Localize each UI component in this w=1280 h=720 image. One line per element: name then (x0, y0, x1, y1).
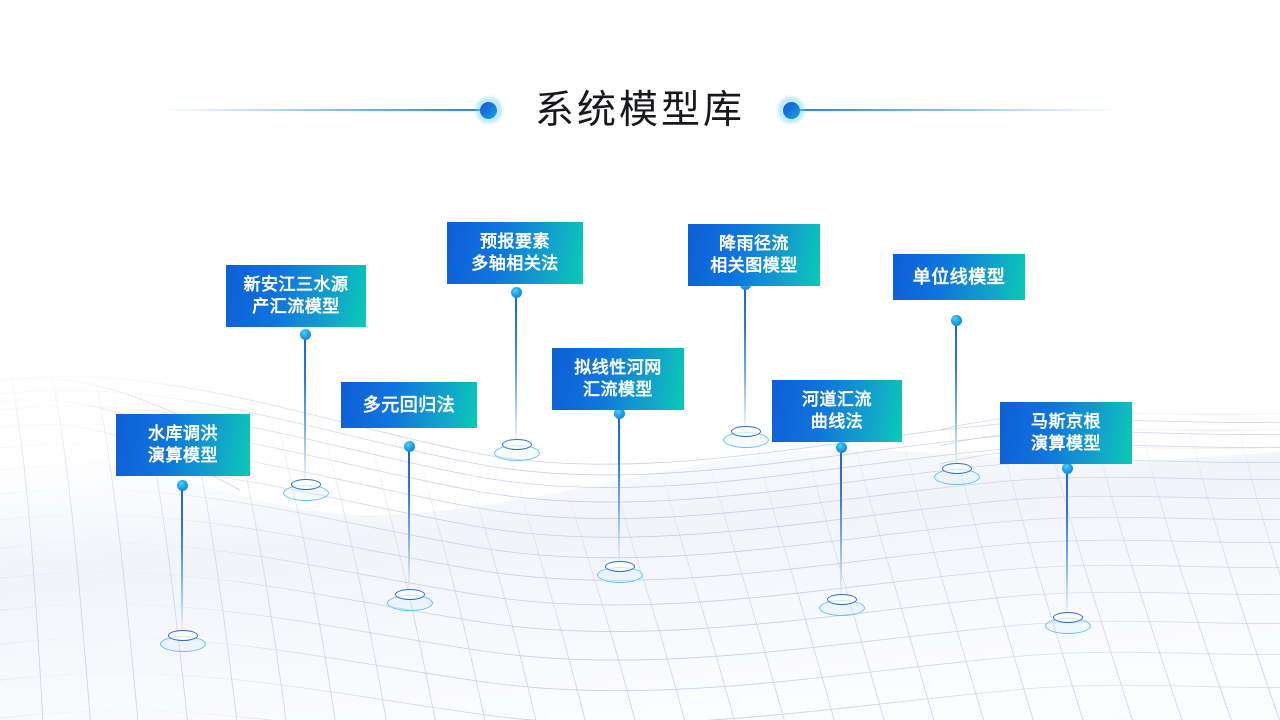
model-pin-forecast-element-multiaxis (515, 292, 517, 448)
model-label-muskingum-routing[interactable]: 马斯京根演算模型 (1000, 402, 1132, 464)
model-label-line: 单位线模型 (911, 266, 1007, 288)
model-label-unit-hydrograph[interactable]: 单位线模型 (893, 254, 1025, 300)
pin-base-ring-outer-icon (1045, 618, 1091, 634)
pin-base-ring-outer-icon (934, 469, 980, 485)
model-label-line: 河道汇流 (786, 389, 888, 411)
decorative-line-right (791, 109, 1121, 111)
pin-base-ring-inner-icon (168, 630, 198, 641)
decorative-dot-left-core (480, 102, 497, 119)
model-label-line: 拟线性河网 (566, 357, 670, 379)
pin-base-ring-inner-icon (291, 479, 321, 490)
pin-base-ring-inner-icon (827, 594, 857, 605)
model-label-line: 多元回归法 (359, 394, 459, 416)
pin-base-ring-inner-icon (1053, 612, 1083, 623)
pin-stem (304, 334, 306, 488)
model-label-line: 产汇流模型 (240, 296, 352, 318)
model-pin-channel-routing-curve (840, 447, 842, 603)
model-label-line: 水库调洪 (130, 423, 236, 445)
slide-canvas: 系统模型库 水库调洪演算模型新安江三水源产汇流模型多元回归法预报要素多轴相关法拟… (0, 0, 1280, 720)
pin-head-dot-icon (300, 329, 311, 340)
model-label-line: 演算模型 (1014, 433, 1118, 455)
model-label-line: 马斯京根 (1014, 411, 1118, 433)
model-pin-rainfall-runoff-correlation (744, 284, 746, 435)
model-label-rainfall-runoff-correlation[interactable]: 降雨径流相关图模型 (688, 224, 820, 286)
decorative-dot-left-icon (474, 95, 504, 125)
model-label-line: 多轴相关法 (461, 253, 569, 275)
pin-base-ring-outer-icon (723, 432, 769, 448)
pin-stem (515, 292, 517, 448)
pin-head-dot-icon (1062, 463, 1073, 474)
pin-head-dot-icon (177, 480, 188, 491)
pin-stem (744, 284, 746, 435)
pin-stem (618, 413, 620, 570)
pin-stem (408, 446, 410, 598)
pin-base-ring-outer-icon (387, 595, 433, 611)
model-label-line: 新安江三水源 (240, 274, 352, 296)
pin-base-ring-inner-icon (395, 589, 425, 600)
model-pin-muskingum-routing (1066, 468, 1068, 621)
model-pin-xinanjiang-three-source (304, 334, 306, 488)
pin-head-dot-icon (404, 441, 415, 452)
model-label-line: 降雨径流 (702, 233, 806, 255)
pin-base-ring-outer-icon (597, 567, 643, 583)
model-label-multiple-regression[interactable]: 多元回归法 (341, 382, 477, 428)
pin-base-ring-outer-icon (283, 485, 329, 501)
pin-base-ring-inner-icon (605, 561, 635, 572)
model-pin-reservoir-flood-routing (181, 485, 183, 639)
decorative-line-right-bar (791, 109, 1121, 111)
pin-base-ring-inner-icon (731, 426, 761, 437)
decorative-dot-right-core (783, 102, 800, 119)
model-label-xinanjiang-three-source[interactable]: 新安江三水源产汇流模型 (226, 265, 366, 327)
decorative-line-left-bar (159, 109, 489, 111)
pin-stem (955, 320, 957, 472)
model-label-line: 相关图模型 (702, 255, 806, 277)
pin-head-dot-icon (951, 315, 962, 326)
model-label-forecast-element-multiaxis[interactable]: 预报要素多轴相关法 (447, 222, 583, 284)
model-label-reservoir-flood-routing[interactable]: 水库调洪演算模型 (116, 414, 250, 476)
pin-stem (1066, 468, 1068, 621)
model-label-line: 汇流模型 (566, 379, 670, 401)
page-title: 系统模型库 (489, 91, 791, 130)
slide-header: 系统模型库 (0, 70, 1280, 150)
pin-base-ring-outer-icon (160, 636, 206, 652)
pin-base-ring-inner-icon (502, 439, 532, 450)
pin-head-dot-icon (836, 442, 847, 453)
pin-base-ring-outer-icon (819, 600, 865, 616)
decorative-dot-right-icon (776, 95, 806, 125)
model-pin-multiple-regression (408, 446, 410, 598)
pin-head-dot-icon (511, 287, 522, 298)
model-label-line: 预报要素 (461, 231, 569, 253)
pin-base-ring-inner-icon (942, 463, 972, 474)
model-label-quasi-linear-river-network[interactable]: 拟线性河网汇流模型 (552, 348, 684, 410)
pin-stem (181, 485, 183, 639)
model-label-line: 演算模型 (130, 445, 236, 467)
pin-stem (840, 447, 842, 603)
model-pin-quasi-linear-river-network (618, 413, 620, 570)
model-label-channel-routing-curve[interactable]: 河道汇流曲线法 (772, 380, 902, 442)
model-label-line: 曲线法 (786, 411, 888, 433)
pin-base-ring-outer-icon (494, 445, 540, 461)
decorative-line-left (159, 109, 489, 111)
model-pin-unit-hydrograph (955, 320, 957, 472)
